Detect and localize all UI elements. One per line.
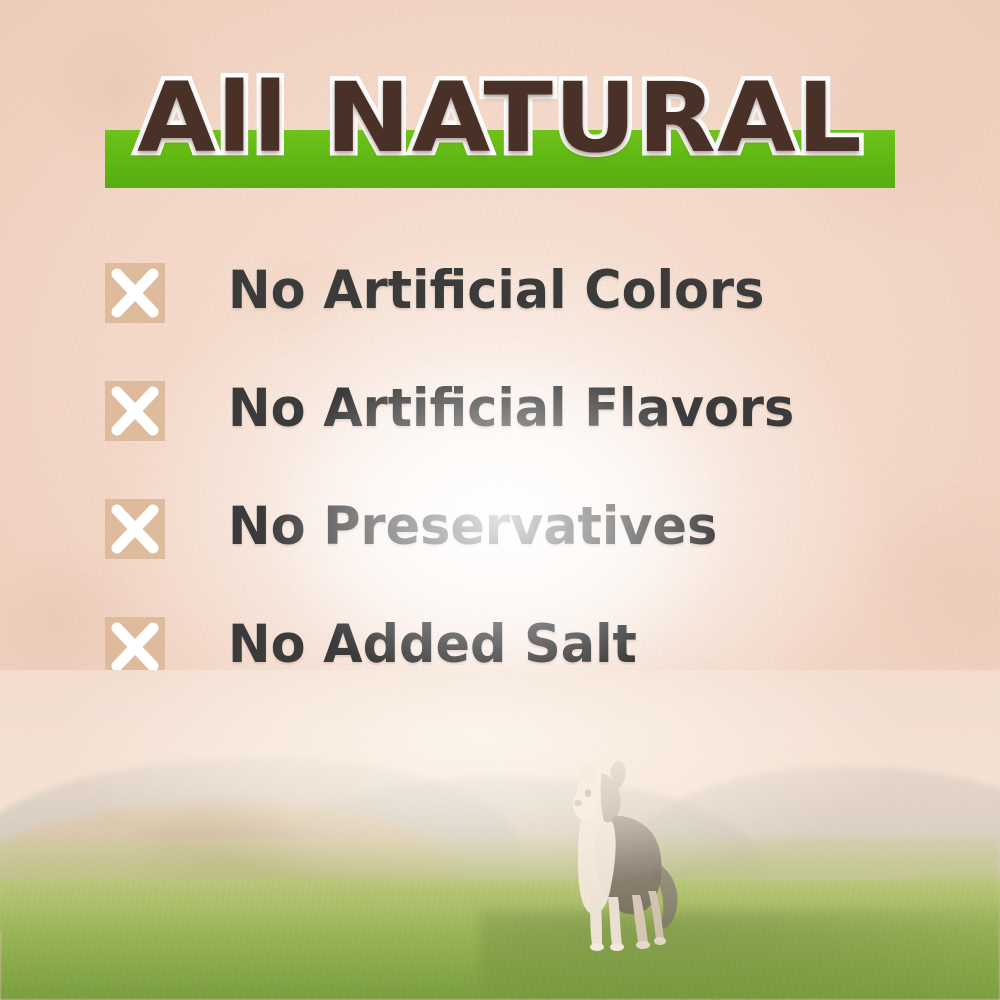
claim-item: No Preservatives [105, 494, 925, 612]
headline-banner: All NATURAL [0, 62, 1000, 202]
x-mark-icon [105, 381, 165, 441]
headline-text: All NATURAL [0, 62, 1000, 174]
claim-item: No Artificial Colors [105, 258, 925, 376]
claim-label: No Preservatives [228, 490, 717, 564]
claim-label: No Artificial Flavors [228, 372, 794, 446]
x-mark-icon [105, 263, 165, 323]
claim-item: No Artificial Flavors [105, 376, 925, 494]
x-mark-icon [105, 499, 165, 559]
x-mark-icon [105, 617, 165, 677]
dog-in-field-photo [0, 670, 1000, 1000]
all-natural-claims-poster: All NATURAL No Artificial Colors No Arti… [0, 0, 1000, 1000]
claim-label: No Artificial Colors [228, 254, 764, 328]
border-collie-dog [540, 745, 690, 970]
claims-list: No Artificial Colors No Artificial Flavo… [105, 258, 925, 730]
